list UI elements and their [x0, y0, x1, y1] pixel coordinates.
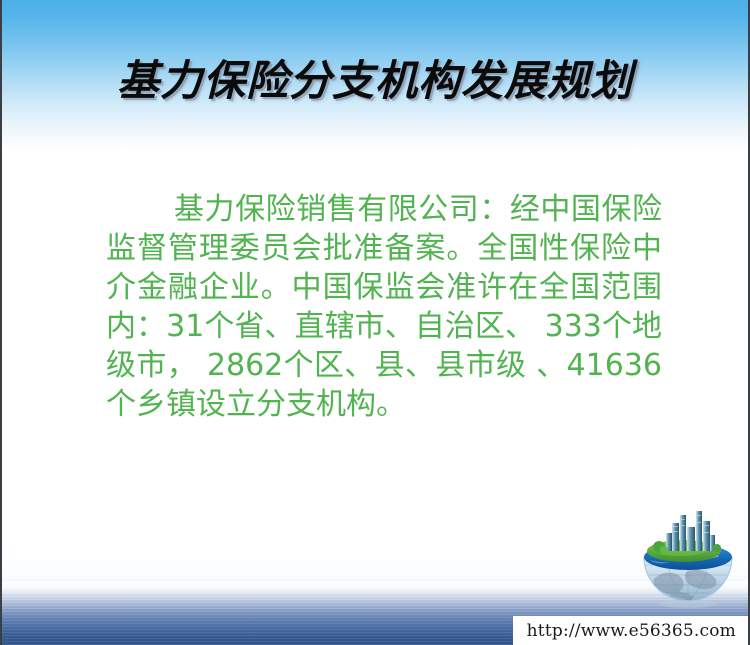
watermark-url-box: http://www.e56365.com [513, 616, 748, 645]
globe-reflection [658, 600, 718, 608]
watermark-url-text: http://www.e56365.com [527, 621, 736, 641]
slide-body-container: 基力保险销售有限公司：经中国保险监督管理委员会批准备案。全国性保险中介金融企业。… [106, 190, 662, 424]
presentation-slide: 基力保险分支机构发展规划 基力保险销售有限公司：经中国保险监督管理委员会批准备案… [0, 0, 750, 645]
slide-title: 基力保险分支机构发展规划 [117, 57, 633, 104]
slide-body-text: 基力保险销售有限公司：经中国保险监督管理委员会批准备案。全国性保险中介金融企业。… [106, 190, 662, 424]
slide-title-container: 基力保险分支机构发展规划 [2, 57, 748, 104]
earth-city-globe-icon [636, 505, 740, 609]
globe-city-skyline [666, 511, 715, 551]
